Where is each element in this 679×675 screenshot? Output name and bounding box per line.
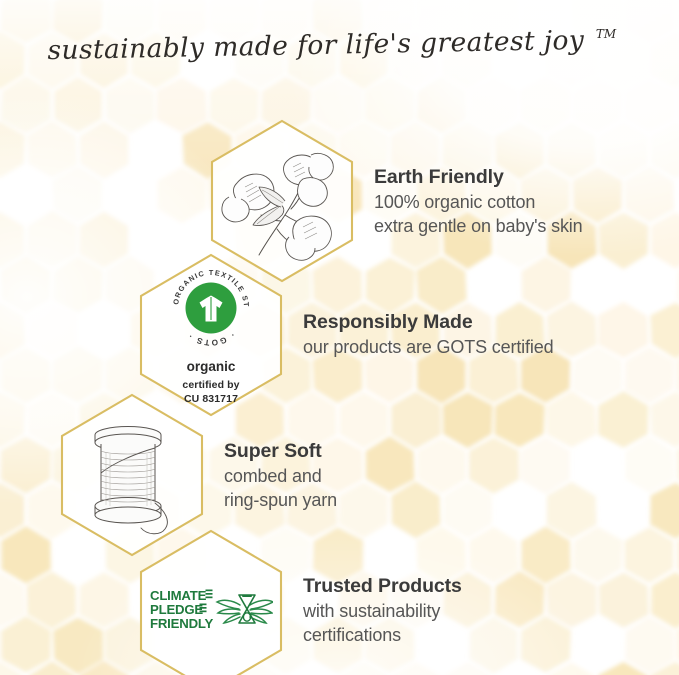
honeycomb-cell (625, 617, 675, 674)
honeycomb-cell (651, 212, 679, 268)
honeycomb-cell (79, 572, 129, 628)
feature-line: combed and (224, 465, 337, 489)
thread-spool-icon (73, 411, 191, 539)
feature-text-responsibly-made: Responsibly Made our products are GOTS c… (303, 310, 553, 359)
honeycomb-cell (54, 77, 102, 133)
honeycomb-cell (53, 166, 102, 223)
honeycomb-cell (469, 527, 518, 583)
honeycomb-cell (624, 77, 674, 132)
honeycomb-cell (598, 391, 648, 448)
honeycomb-cell (547, 572, 597, 627)
honeycomb-cell (547, 391, 597, 447)
honeycomb-cell (27, 121, 77, 178)
honeycomb-cell (625, 347, 675, 403)
climate-pledge-friendly-icon: CLIMATE PLEDGE FRIENDLY (149, 583, 273, 639)
honeycomb-cell (366, 436, 415, 492)
feature-trusted-products: CLIMATE PLEDGE FRIENDLY (137, 528, 462, 675)
gots-certified-by-label: certified by (182, 379, 239, 392)
tagline-text: sustainably made for life's greatest joy (47, 25, 585, 66)
honeycomb-cell (417, 438, 466, 494)
honeycomb-cell (598, 302, 648, 358)
feature-text-trusted-products: Trusted Products with sustainability cer… (303, 574, 462, 647)
winged-hourglass-glyph (217, 595, 273, 623)
honeycomb-cell (651, 572, 679, 629)
honeycomb-cell (28, 302, 77, 358)
tagline: sustainably made for life's greatest joy… (0, 22, 679, 73)
honeycomb-cell (1, 76, 51, 133)
honeycomb-cell (106, 77, 155, 133)
honeycomb-cell (53, 256, 103, 312)
cpf-line-climate: CLIMATE (150, 588, 207, 603)
cpf-line-pledge: PLEDGE (150, 602, 203, 617)
honeycomb-cell (1, 256, 50, 313)
honeycomb-cell (1, 526, 51, 584)
promo-infographic: sustainably made for life's greatest joy… (0, 0, 679, 675)
gots-organic-label: organic (182, 359, 239, 375)
honeycomb-cell (547, 482, 597, 539)
honeycomb-cell (625, 436, 674, 493)
honeycomb-cell (79, 212, 128, 268)
feature-line: ring-spun yarn (224, 489, 337, 513)
honeycomb-cell (650, 303, 679, 359)
honeycomb-cell (495, 571, 545, 628)
feature-title: Super Soft (224, 439, 337, 463)
feature-title: Earth Friendly (374, 165, 583, 189)
honeycomb-cell (1, 348, 50, 403)
honeycomb-cell (80, 121, 129, 179)
trademark-symbol: TM (595, 27, 616, 41)
honeycomb-cell (599, 122, 648, 178)
feature-line: with sustainability (303, 600, 462, 624)
feature-text-earth-friendly: Earth Friendly 100% organic cotton extra… (374, 165, 583, 238)
honeycomb-cell (27, 211, 77, 268)
honeycomb-cell (650, 483, 679, 539)
honeycomb-cell (520, 437, 570, 494)
honeycomb-cell (470, 617, 518, 674)
feature-line: 100% organic cotton (374, 191, 583, 215)
hex-content-climate-pledge: CLIMATE PLEDGE FRIENDLY (137, 528, 285, 675)
hex-badge-climate-pledge: CLIMATE PLEDGE FRIENDLY (137, 528, 285, 675)
honeycomb-cell (625, 166, 674, 222)
honeycomb-cell (27, 572, 76, 629)
honeycomb-cell (651, 392, 679, 448)
gots-certification-icon: GLOBAL ORGANIC TEXTILE STANDARD · GOTS · (165, 262, 257, 354)
honeycomb-cell (573, 527, 622, 583)
cotton-plant-icon (219, 135, 345, 267)
honeycomb-cell (1, 616, 51, 672)
honeycomb-cell (469, 438, 519, 494)
honeycomb-cell (599, 573, 649, 628)
cpf-line-friendly: FRIENDLY (150, 616, 214, 631)
honeycomb-cell (625, 527, 674, 583)
honeycomb-cell (157, 78, 207, 133)
honeycomb-cell (521, 526, 570, 583)
feature-line: extra gentle on baby's skin (374, 215, 583, 239)
honeycomb-cell (598, 213, 648, 270)
feature-text-super-soft: Super Soft combed and ring-spun yarn (224, 439, 337, 512)
feature-title: Responsibly Made (303, 310, 553, 334)
honeycomb-cell (651, 122, 679, 178)
feature-line: our products are GOTS certified (303, 336, 553, 360)
feature-title: Trusted Products (303, 574, 462, 598)
honeycomb-cell (158, 167, 207, 223)
honeycomb-cell (572, 347, 622, 403)
honeycomb-cell (521, 616, 571, 673)
feature-line: certifications (303, 624, 462, 648)
honeycomb-cell (547, 301, 597, 357)
honeycomb-cell (1, 437, 51, 494)
